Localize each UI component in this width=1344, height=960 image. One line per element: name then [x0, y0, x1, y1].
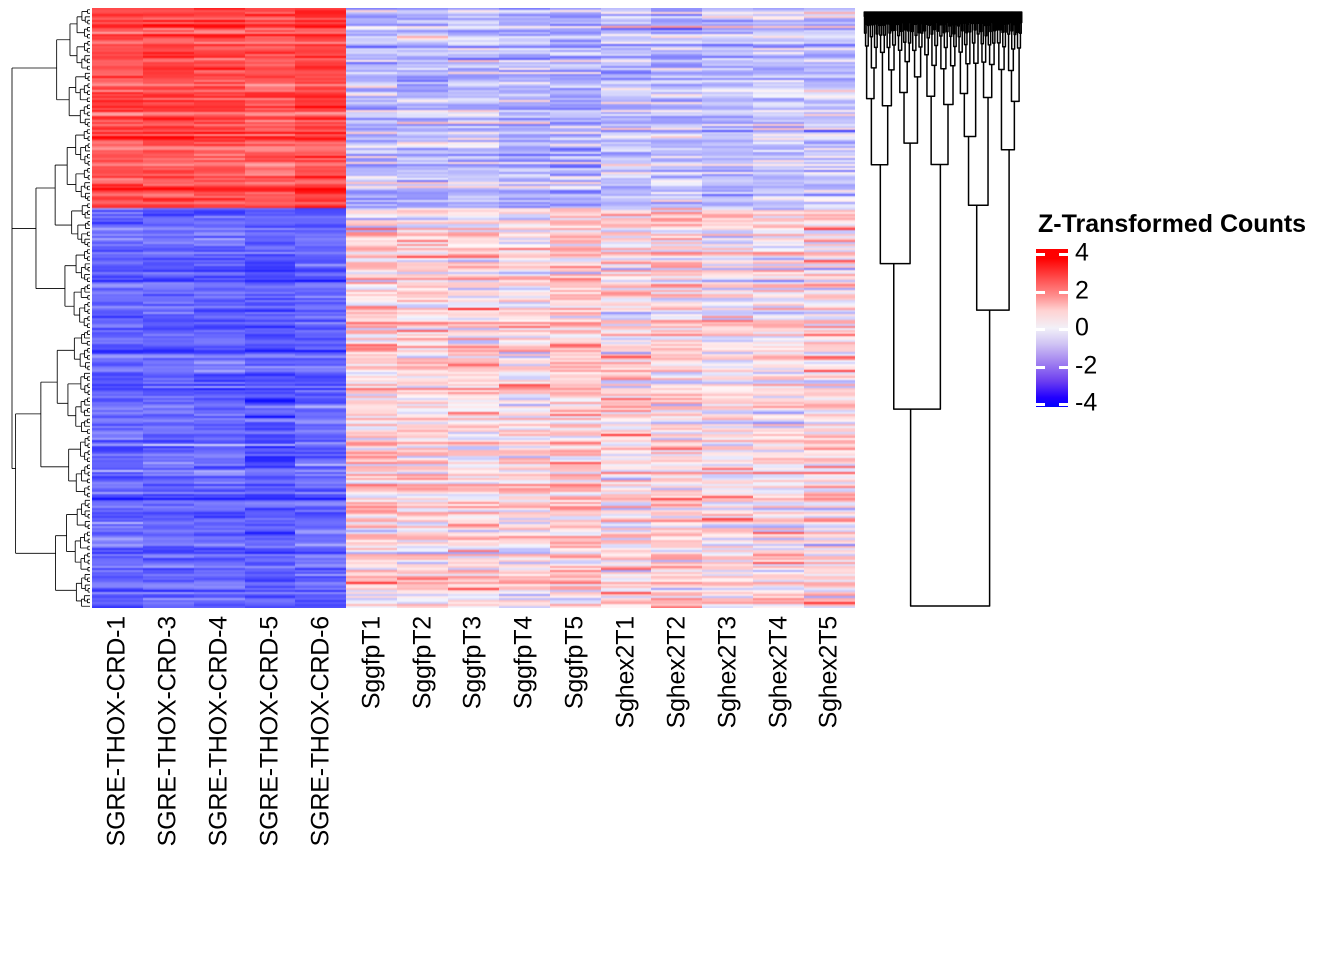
column-label: SggfpT5 — [561, 616, 590, 709]
column-label-slot: SggfpT4 — [499, 612, 550, 942]
column-label: SggfpT1 — [357, 616, 386, 709]
column-label: SggfpT4 — [510, 616, 539, 709]
legend-tick-label: -4 — [1075, 389, 1097, 418]
legend-tick — [1036, 253, 1045, 256]
legend-tick — [1036, 328, 1045, 331]
column-label: SggfpT2 — [408, 616, 437, 709]
heatmap-column-canvas — [601, 8, 652, 608]
column-label-slot: SggfpT5 — [550, 612, 601, 942]
heatmap-column-canvas — [448, 8, 499, 608]
heatmap-column — [550, 8, 601, 608]
legend-tick-label: -2 — [1075, 351, 1097, 380]
legend-colorbar — [1036, 249, 1068, 407]
column-label: SGRE-THOX-CRD-4 — [205, 616, 234, 846]
legend-tick-label: 0 — [1075, 314, 1089, 343]
heatmap-column — [499, 8, 550, 608]
legend-tick-label: 4 — [1075, 239, 1089, 268]
column-label-slot: SggfpT2 — [397, 612, 448, 942]
heatmap-column-canvas — [143, 8, 194, 608]
heatmap-column — [702, 8, 753, 608]
column-label-slot: Sghex2T3 — [702, 612, 753, 942]
heatmap-column-canvas — [397, 8, 448, 608]
column-label: Sghex2T3 — [713, 616, 742, 728]
heatmap-column-canvas — [651, 8, 702, 608]
heatmap-column-canvas — [499, 8, 550, 608]
legend: Z-Transformed Counts 420-2-4 — [1036, 210, 1306, 407]
column-label-slot: SggfpT1 — [346, 612, 397, 942]
legend-tick — [1059, 328, 1068, 331]
heatmap-column-canvas — [804, 8, 855, 608]
heatmap-column — [143, 8, 194, 608]
heatmap-column-canvas — [753, 8, 804, 608]
legend-tick-label: 2 — [1075, 276, 1089, 305]
column-label-slot: SGRE-THOX-CRD-5 — [245, 612, 296, 942]
heatmap-column — [295, 8, 346, 608]
heatmap-column — [194, 8, 245, 608]
column-label: Sghex2T2 — [662, 616, 691, 728]
column-label-axis: SGRE-THOX-CRD-1SGRE-THOX-CRD-3SGRE-THOX-… — [92, 612, 855, 942]
legend-body: 420-2-4 — [1036, 249, 1306, 407]
heatmap-figure: SGRE-THOX-CRD-1SGRE-THOX-CRD-3SGRE-THOX-… — [0, 0, 1344, 960]
column-label-slot: Sghex2T2 — [651, 612, 702, 942]
legend-tick — [1059, 253, 1068, 256]
column-label: Sghex2T1 — [612, 616, 641, 728]
heatmap-column — [346, 8, 397, 608]
heatmap-column-canvas — [550, 8, 601, 608]
column-label-slot: Sghex2T1 — [601, 612, 652, 942]
column-label: SGRE-THOX-CRD-3 — [154, 616, 183, 846]
legend-tick — [1059, 366, 1068, 369]
column-label: SGRE-THOX-CRD-1 — [103, 616, 132, 846]
heatmap-grid — [92, 8, 855, 608]
column-label-slot: Sghex2T4 — [753, 612, 804, 942]
heatmap-column — [601, 8, 652, 608]
heatmap-column — [804, 8, 855, 608]
legend-tick — [1059, 403, 1068, 406]
legend-tick-labels: 420-2-4 — [1075, 249, 1145, 407]
column-label: SggfpT3 — [459, 616, 488, 709]
heatmap-column — [92, 8, 143, 608]
column-label-slot: SGRE-THOX-CRD-4 — [194, 612, 245, 942]
column-label-slot: SGRE-THOX-CRD-6 — [295, 612, 346, 942]
column-label: SGRE-THOX-CRD-5 — [256, 616, 285, 846]
heatmap-column — [448, 8, 499, 608]
heatmap-column-canvas — [702, 8, 753, 608]
column-label: Sghex2T5 — [815, 616, 844, 728]
column-label-slot: Sghex2T5 — [804, 612, 855, 942]
row-dendrogram-svg — [10, 8, 90, 608]
column-label-slot: SGRE-THOX-CRD-3 — [143, 612, 194, 942]
heatmap-column-canvas — [245, 8, 296, 608]
row-dendrogram — [10, 8, 90, 608]
legend-tick — [1059, 291, 1068, 294]
heatmap-column-canvas — [346, 8, 397, 608]
heatmap-column — [397, 8, 448, 608]
column-label-slot: SggfpT3 — [448, 612, 499, 942]
column-dendrogram — [862, 8, 1024, 608]
column-label: SGRE-THOX-CRD-6 — [306, 616, 335, 846]
heatmap-column — [245, 8, 296, 608]
column-label-slot: SGRE-THOX-CRD-1 — [92, 612, 143, 942]
heatmap-column — [651, 8, 702, 608]
heatmap-column-canvas — [92, 8, 143, 608]
heatmap-column — [753, 8, 804, 608]
heatmap-column-canvas — [295, 8, 346, 608]
legend-tick — [1036, 291, 1045, 294]
column-label: Sghex2T4 — [764, 616, 793, 728]
legend-tick — [1036, 366, 1045, 369]
column-dendrogram-svg — [862, 8, 1024, 608]
heatmap-column-canvas — [194, 8, 245, 608]
legend-title: Z-Transformed Counts — [1038, 210, 1306, 239]
legend-tick — [1036, 403, 1045, 406]
